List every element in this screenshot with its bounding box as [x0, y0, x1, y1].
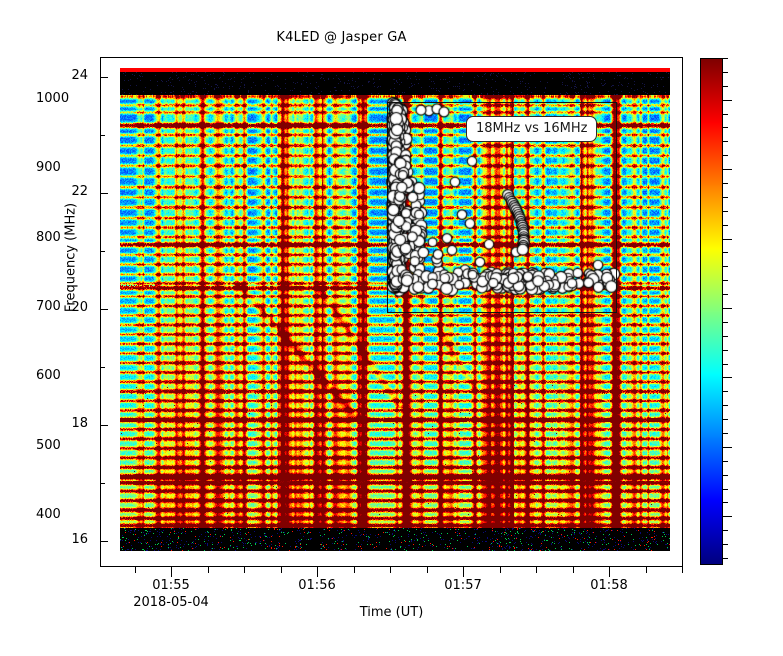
colorbar-tick-label: 400: [36, 507, 61, 522]
colorbar-minor-tick: [723, 558, 728, 559]
colorbar-minor-tick: [723, 211, 728, 212]
x-minor-tick: [390, 567, 391, 573]
x-tick-label: 01:55: [136, 578, 206, 593]
colorbar-minor-tick: [723, 475, 728, 476]
colorbar-tick-label: 600: [36, 368, 61, 383]
x-major-tick: [317, 567, 318, 577]
colorbar-minor-tick: [723, 72, 728, 73]
x-minor-tick: [500, 567, 501, 573]
colorbar-minor-tick: [723, 350, 728, 351]
y-axis-label: Frequency (MHz): [64, 178, 79, 338]
colorbar-minor-tick: [723, 280, 728, 281]
colorbar-minor-tick: [723, 322, 728, 323]
colorbar-minor-tick: [723, 391, 728, 392]
page-title: K4LED @ Jasper GA: [0, 30, 683, 45]
colorbar-minor-tick: [723, 294, 728, 295]
colorbar-tick-label: 500: [36, 438, 61, 453]
colorbar-minor-tick: [723, 114, 728, 115]
colorbar-minor-tick: [723, 544, 728, 545]
colorbar-major-tick: [723, 447, 732, 448]
colorbar-gradient: [700, 58, 723, 565]
colorbar-major-tick: [723, 308, 732, 309]
y-tick-label: 18: [48, 416, 88, 431]
x-minor-tick: [281, 567, 282, 573]
colorbar-minor-tick: [723, 336, 728, 337]
colorbar-minor-tick: [723, 266, 728, 267]
colorbar-tick-label: 700: [36, 299, 61, 314]
x-axis-label: Time (UT): [100, 605, 683, 620]
annotation-label: 18MHz vs 16MHz: [466, 116, 597, 142]
x-minor-tick: [573, 567, 574, 573]
colorbar-minor-tick: [723, 86, 728, 87]
colorbar-tick-label: 900: [36, 160, 61, 175]
colorbar-major-tick: [723, 239, 732, 240]
x-minor-tick: [427, 567, 428, 573]
colorbar-major-tick: [723, 169, 732, 170]
colorbar-minor-tick: [723, 183, 728, 184]
colorbar: [700, 58, 723, 565]
colorbar-minor-tick: [723, 58, 728, 59]
figure-root: K4LED @ Jasper GA 18MHz vs 16MHz Frequen…: [0, 0, 783, 656]
colorbar-minor-tick: [723, 155, 728, 156]
x-minor-tick: [244, 567, 245, 573]
colorbar-minor-tick: [723, 502, 728, 503]
y-tick-label: 16: [48, 532, 88, 547]
colorbar-minor-tick: [723, 364, 728, 365]
x-tick-label: 01:58: [574, 578, 644, 593]
colorbar-minor-tick: [723, 225, 728, 226]
colorbar-minor-tick: [723, 461, 728, 462]
x-minor-tick: [354, 567, 355, 573]
colorbar-minor-tick: [723, 489, 728, 490]
x-major-tick: [463, 567, 464, 577]
colorbar-minor-tick: [723, 197, 728, 198]
x-minor-tick: [536, 567, 537, 573]
y-tick-label: 24: [48, 68, 88, 83]
colorbar-minor-tick: [723, 141, 728, 142]
colorbar-major-tick: [723, 100, 732, 101]
x-minor-tick: [135, 567, 136, 573]
colorbar-minor-tick: [723, 419, 728, 420]
colorbar-major-tick: [723, 516, 732, 517]
colorbar-major-tick: [723, 377, 732, 378]
x-tick-label: 01:57: [428, 578, 498, 593]
colorbar-minor-tick: [723, 433, 728, 434]
x-minor-tick: [208, 567, 209, 573]
x-minor-tick: [682, 567, 683, 573]
colorbar-minor-tick: [723, 530, 728, 531]
colorbar-tick-label: 1000: [36, 91, 69, 106]
x-major-tick: [171, 567, 172, 577]
x-major-tick: [609, 567, 610, 577]
colorbar-minor-tick: [723, 405, 728, 406]
colorbar-tick-label: 800: [36, 230, 61, 245]
x-tick-label: 01:56: [282, 578, 352, 593]
colorbar-minor-tick: [723, 252, 728, 253]
x-minor-tick: [646, 567, 647, 573]
colorbar-minor-tick: [723, 127, 728, 128]
